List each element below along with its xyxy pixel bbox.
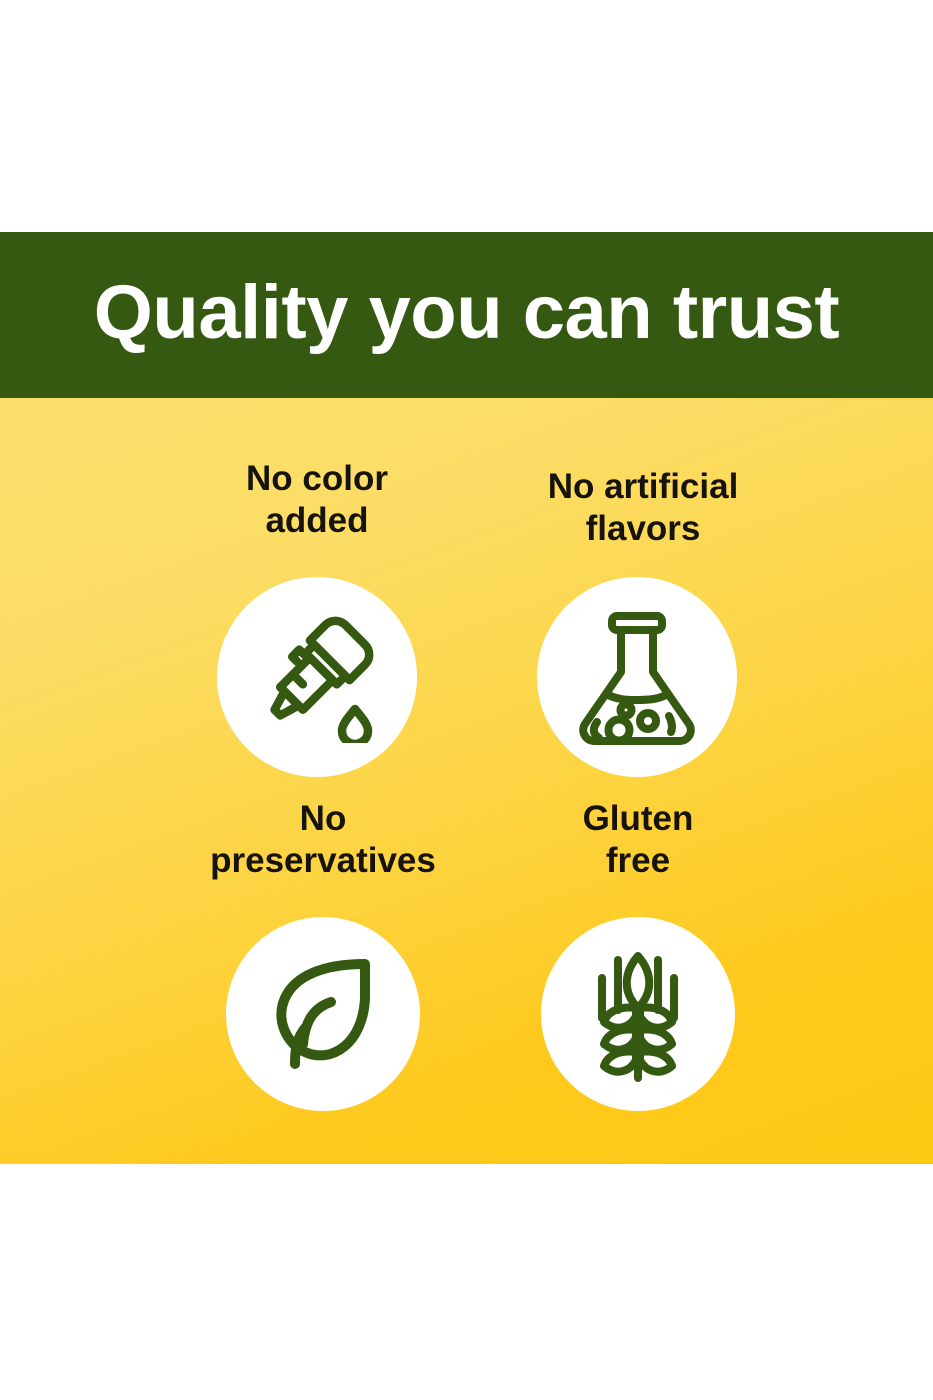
page-title: Quality you can trust <box>94 275 839 355</box>
feature-icon-badge-no-preservatives <box>226 917 420 1111</box>
quality-badge-graphic: Quality you can trust No color added <box>0 0 933 1400</box>
features-panel: No color added <box>0 398 933 1164</box>
feature-label-gluten-free: Gluten free <box>473 798 803 882</box>
feature-label-no-artificial-flavors: No artificial flavors <box>478 466 808 550</box>
feature-label-no-color: No color added <box>152 458 482 542</box>
feature-icon-badge-gluten-free <box>541 917 735 1111</box>
feature-icon-badge-no-color <box>217 577 417 777</box>
feature-icon-badge-no-artificial-flavors <box>537 577 737 777</box>
flask-icon <box>573 608 701 746</box>
header-banner: Quality you can trust <box>0 232 933 398</box>
feature-label-no-preservatives: No preservatives <box>158 798 488 882</box>
wheat-icon <box>578 944 698 1084</box>
bottom-whitespace <box>0 1164 933 1400</box>
dropper-icon <box>251 611 383 743</box>
top-whitespace <box>0 0 933 232</box>
leaf-icon <box>261 952 385 1076</box>
